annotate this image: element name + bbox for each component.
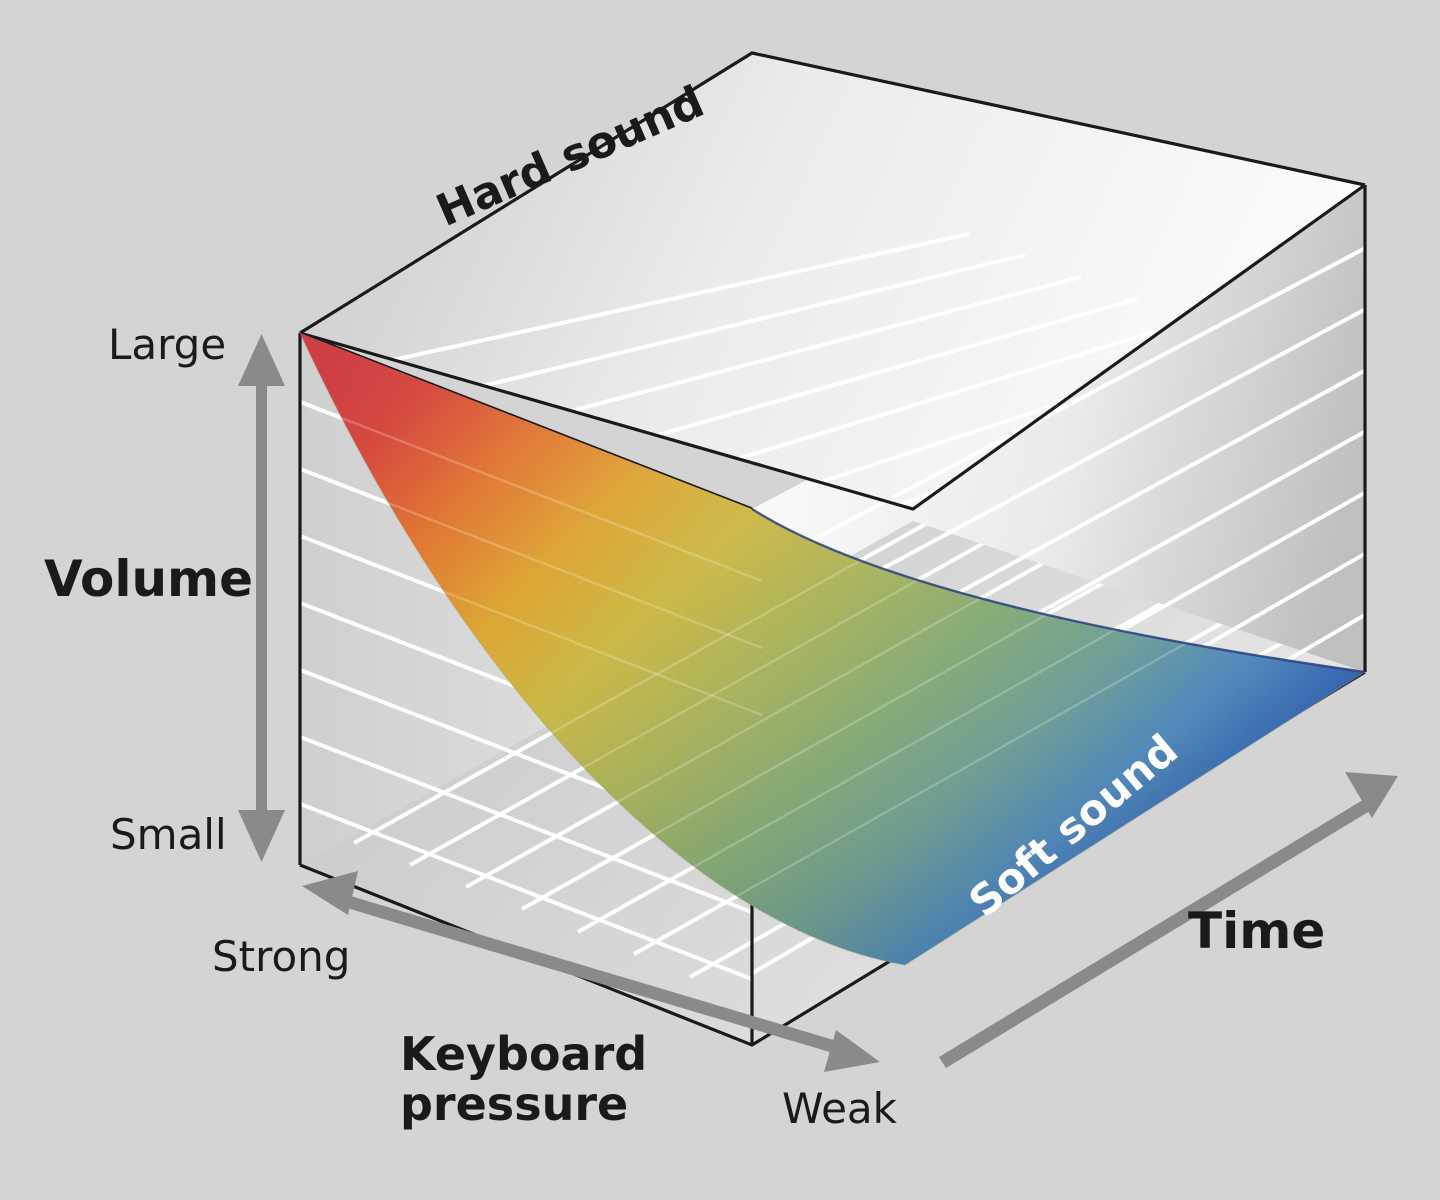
keyboard-pressure-axis-title: Keyboard pressure — [400, 1030, 647, 1129]
volume-axis-title: Volume — [44, 552, 253, 606]
keyboard-pressure-low-label: Weak — [782, 1086, 897, 1131]
keyboard-pressure-high-label: Strong — [212, 934, 350, 979]
kp-arrowhead-weak — [824, 1030, 880, 1072]
time-axis-title: Time — [1188, 904, 1325, 958]
diagram-canvas: Large Small Volume Strong Weak Keyboard … — [0, 0, 1440, 1200]
volume-axis-high-label: Large — [108, 322, 226, 367]
volume-axis-low-label: Small — [110, 812, 227, 857]
